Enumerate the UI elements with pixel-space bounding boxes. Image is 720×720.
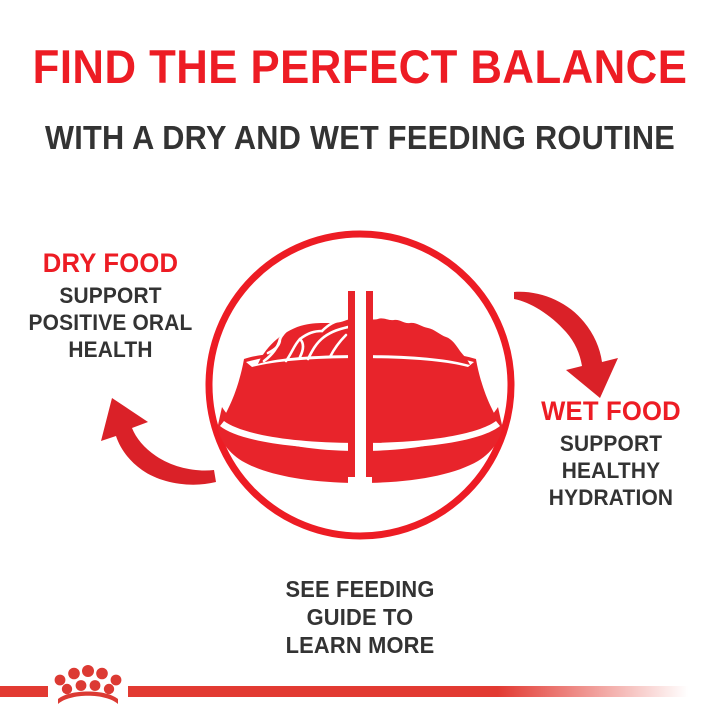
- dry-kibble-half: [218, 317, 360, 483]
- feeding-guide-caption: SEE FEEDING GUIDE TO LEARN MORE: [237, 575, 484, 659]
- wet-food-label: WET FOOD SUPPORT HEALTHY HYDRATION: [505, 396, 717, 511]
- caption-line-2: GUIDE TO: [237, 603, 484, 631]
- dry-food-label: DRY FOOD SUPPORT POSITIVE ORAL HEALTH: [8, 248, 213, 363]
- brand-rule-right: [128, 686, 688, 697]
- wet-food-desc-line-2: HYDRATION: [510, 484, 711, 511]
- page-subtitle: WITH A DRY AND WET FEEDING ROUTINE: [25, 118, 695, 158]
- page-title: FIND THE PERFECT BALANCE: [25, 40, 695, 94]
- brand-rule-left: [0, 686, 48, 697]
- dry-food-desc-line-1: SUPPORT: [13, 282, 208, 309]
- infographic-poster: FIND THE PERFECT BALANCE WITH A DRY AND …: [0, 0, 720, 720]
- vertical-divider-icon: [348, 291, 373, 477]
- bowl-graphic: [218, 291, 502, 483]
- dry-food-desc-line-3: HEALTH: [13, 336, 208, 363]
- caption-line-1: SEE FEEDING: [237, 575, 484, 603]
- royal-canin-crown-logo-icon: [48, 660, 128, 708]
- curved-arrow-up-left-icon: [88, 378, 218, 498]
- caption-line-3: LEARN MORE: [237, 631, 484, 659]
- split-feeding-bowl-illustration: [200, 225, 520, 545]
- wet-food-desc-line-1: SUPPORT HEALTHY: [510, 430, 711, 484]
- dry-food-desc-line-2: POSITIVE ORAL: [13, 309, 208, 336]
- dry-food-title: DRY FOOD: [13, 248, 208, 279]
- wet-food-half: [360, 317, 502, 483]
- curved-arrow-down-right-icon: [512, 282, 652, 402]
